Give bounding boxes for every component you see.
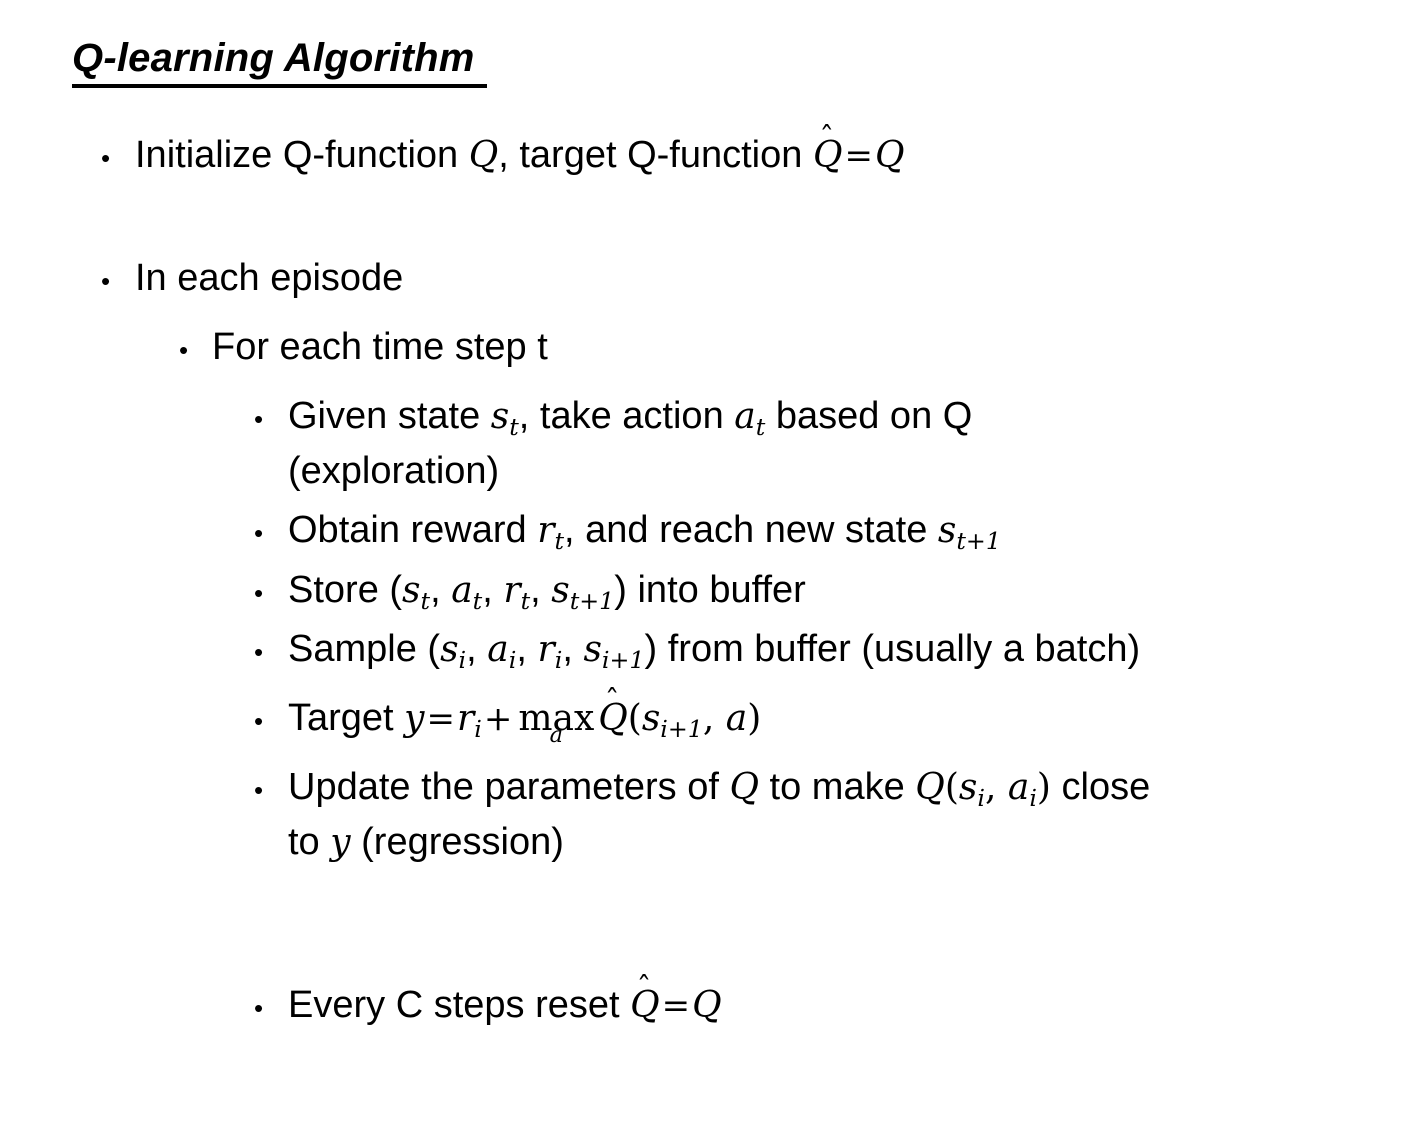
text-store-comma2: , — [482, 569, 503, 611]
text-obtain-reward-prefix: Obtain reward — [288, 509, 537, 551]
bullet-sample: Sample (si, ai, ri, si+1) from buffer (u… — [0, 622, 1428, 677]
math-sample-r-base: r — [537, 629, 554, 670]
math-update-comma: , — [985, 767, 1008, 808]
bullet-sample-text: Sample (si, ai, ri, si+1) from buffer (u… — [288, 622, 1428, 677]
bullet-dot-icon — [101, 251, 110, 306]
page-title: Q-learning Algorithm — [72, 34, 475, 82]
text-store-comma1: , — [430, 569, 451, 611]
text-sample-comma2: , — [516, 628, 537, 670]
math-sample-s-next: si+1 — [583, 629, 644, 670]
bullet-target: Target y=ri+maxaQˆ(si+1, a) — [0, 691, 1428, 746]
text-given-state-line2: (exploration) — [288, 450, 499, 492]
bullet-dot-icon — [254, 978, 263, 1033]
bullet-dot-icon — [254, 389, 263, 444]
bullet-given-state: Given state st, take action at based on … — [0, 389, 1428, 499]
math-r: rt — [537, 510, 564, 551]
text-target-prefix: Target — [288, 697, 404, 739]
bullet-given-state-text: Given state st, take action at based on … — [288, 389, 1428, 499]
text-given-state-suffix: based on Q — [765, 395, 972, 437]
bullet-obtain-reward-text: Obtain reward rt, and reach new state st… — [288, 503, 1428, 558]
bullet-dot-icon — [254, 563, 263, 618]
text-update-prefix: Update the parameters of — [288, 766, 729, 808]
math-q: Q — [469, 135, 499, 176]
math-update-s-base: s — [959, 767, 977, 808]
text-update-line2-prefix: to — [288, 821, 330, 863]
math-sample-s-next-base: s — [583, 629, 601, 670]
text-update-suffix: close — [1051, 766, 1150, 808]
math-sample-s-base: s — [440, 629, 458, 670]
bullet-dot-icon — [254, 622, 263, 677]
bullet-store-text: Store (st, at, rt, st+1) into buffer — [288, 563, 1428, 618]
text-given-state-mid: , take action — [519, 395, 734, 437]
bullet-for-each-time-step-text: For each time step t — [212, 320, 1428, 375]
math-s: st — [491, 396, 519, 437]
text-given-state-prefix: Given state — [288, 395, 491, 437]
math-target-equals: = — [425, 699, 458, 739]
text-store-suffix: ) into buffer — [614, 569, 806, 611]
math-target-s: si+1 — [642, 698, 703, 739]
math-update-y: y — [330, 822, 350, 863]
math-target-r-base: r — [457, 698, 474, 739]
math-target-paren-open: ( — [628, 698, 642, 739]
math-s-next: st+1 — [938, 510, 1001, 551]
bullet-dot-icon — [254, 503, 263, 558]
bullet-reset-target-network: Every C steps reset Qˆ=Q — [0, 978, 1428, 1033]
math-target-plus: + — [482, 699, 515, 739]
math-store-r: rt — [503, 570, 530, 611]
math-sample-a: ai — [487, 629, 516, 670]
bullet-dot-icon — [254, 691, 263, 746]
math-target-paren-close: ) — [747, 698, 761, 739]
text-reset-prefix: Every C steps reset — [288, 984, 630, 1026]
math-store-a-base: a — [451, 570, 472, 611]
title-underline — [72, 84, 487, 88]
bullet-update-text: Update the parameters of Q to make Q(si,… — [288, 760, 1428, 870]
math-update-a-base: a — [1008, 767, 1029, 808]
math-r-base: r — [537, 510, 554, 551]
math-r-subscript: t — [554, 528, 564, 556]
math-a-subscript: t — [756, 413, 766, 441]
math-update-a: ai — [1008, 767, 1037, 808]
math-target-r-subscript: i — [474, 715, 482, 743]
math-sample-s-next-subscript: i+1 — [602, 646, 645, 674]
math-store-s-base: s — [402, 570, 420, 611]
text-update-mid: to make — [759, 766, 915, 808]
math-store-s: st — [402, 570, 430, 611]
math-a-base: a — [734, 396, 755, 437]
math-target-r: ri — [457, 698, 482, 739]
math-s-next-base: s — [938, 510, 956, 551]
math-store-r-subscript: t — [521, 587, 531, 615]
math-update-paren-close: ) — [1037, 767, 1051, 808]
hat-accent-icon: ˆ — [637, 974, 652, 1004]
math-target-s-base: s — [642, 698, 660, 739]
math-sample-s: si — [440, 629, 466, 670]
bullet-for-each-time-step: For each time step t — [0, 320, 1428, 375]
math-s-base: s — [491, 396, 509, 437]
text-sample-comma1: , — [466, 628, 487, 670]
math-target-y: y — [404, 698, 424, 739]
text-sample-suffix: ) from buffer (usually a batch) — [645, 628, 1141, 670]
math-max-operator: maxa — [514, 701, 598, 737]
slide-body: Initialize Q-function Q, target Q-functi… — [0, 128, 1428, 1033]
text-initialize-prefix: Initialize Q-function — [135, 134, 469, 176]
math-store-s-next-subscript-text: t+1 — [570, 587, 615, 615]
math-target-q-hat: Qˆ — [598, 701, 628, 737]
text-update-line2-suffix: (regression) — [351, 821, 564, 863]
math-equals: = — [842, 136, 875, 176]
bullet-update: Update the parameters of Q to make Q(si,… — [0, 760, 1428, 870]
math-update-paren-open: ( — [945, 767, 959, 808]
math-store-a-subscript: t — [473, 587, 483, 615]
math-target-s-subscript: i+1 — [660, 715, 703, 743]
text-sample-prefix: Sample ( — [288, 628, 440, 670]
math-reset-q-hat: Qˆ — [630, 988, 660, 1024]
math-store-s-next-base: s — [551, 570, 569, 611]
math-sample-r: ri — [537, 629, 562, 670]
math-s-next-subscript: t+1 — [956, 528, 1001, 556]
bullet-in-each-episode-text: In each episode — [135, 251, 1428, 306]
math-reset-q: Q — [692, 985, 722, 1026]
bullet-reset-text: Every C steps reset Qˆ=Q — [288, 978, 1428, 1033]
text-sample-comma3: , — [562, 628, 583, 670]
hat-accent-icon: ˆ — [605, 687, 620, 717]
text-obtain-reward-mid: , and reach new state — [564, 509, 938, 551]
math-store-a: at — [451, 570, 482, 611]
bullet-dot-icon — [101, 128, 110, 183]
bullet-in-each-episode: In each episode — [0, 251, 1428, 306]
bullet-initialize: Initialize Q-function Q, target Q-functi… — [0, 128, 1428, 183]
math-target-a: a — [726, 698, 747, 739]
bullet-initialize-text: Initialize Q-function Q, target Q-functi… — [135, 128, 1428, 183]
math-store-r-base: r — [503, 570, 520, 611]
math-sample-a-base: a — [487, 629, 508, 670]
math-q-hat: Qˆ — [813, 138, 843, 174]
bullet-dot-icon — [254, 760, 263, 815]
math-update-q2: Q — [915, 767, 945, 808]
math-store-s-subscript: t — [421, 587, 431, 615]
bullet-obtain-reward: Obtain reward rt, and reach new state st… — [0, 503, 1428, 558]
math-update-s-subscript: i — [977, 784, 985, 812]
text-store-comma3: , — [530, 569, 551, 611]
bullet-dot-icon — [179, 320, 188, 375]
bullet-store: Store (st, at, rt, st+1) into buffer — [0, 563, 1428, 618]
bullet-target-text: Target y=ri+maxaQˆ(si+1, a) — [288, 691, 1428, 746]
math-store-s-next: st+1 — [551, 570, 614, 611]
math-update-a-subscript: i — [1029, 784, 1037, 812]
math-q-target: Q — [875, 135, 905, 176]
text-initialize-mid: , target Q-function — [498, 134, 813, 176]
math-a: at — [734, 396, 765, 437]
math-store-s-next-subscript: t+1 — [570, 587, 615, 615]
math-s-subscript: t — [509, 413, 519, 441]
math-sample-s-subscript: i — [459, 646, 467, 674]
math-reset-equals: = — [660, 986, 693, 1026]
math-max-limit: a — [514, 724, 598, 746]
math-target-comma: , — [703, 698, 726, 739]
math-update-q: Q — [729, 767, 759, 808]
text-store-prefix: Store ( — [288, 569, 402, 611]
math-update-s: si — [959, 767, 985, 808]
hat-accent-icon: ˆ — [819, 124, 834, 154]
